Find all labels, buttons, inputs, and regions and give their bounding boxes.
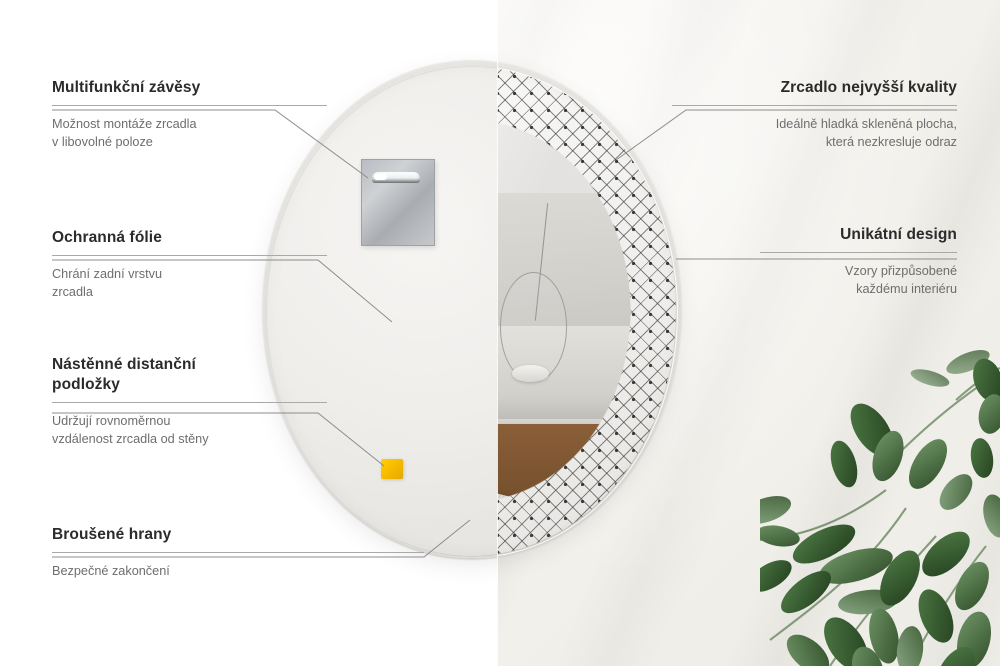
callout-unique-design-desc: Vzory přizpůsobené každému interiéru	[760, 262, 957, 298]
callout-mirror-quality-rule	[672, 105, 957, 106]
callout-protective-foil-title: Ochranná fólie	[52, 228, 327, 248]
callout-polished-edges-title: Broušené hrany	[52, 525, 424, 545]
callout-hangers-title: Multifunkční závěsy	[52, 78, 327, 98]
callout-wall-spacers-desc: Udržují rovnoměrnou vzdálenost zrcadla o…	[52, 412, 327, 448]
callout-polished-edges-rule	[52, 552, 424, 553]
infographic-page: Multifunkční závěsy Možnost montáže zrca…	[0, 0, 1000, 666]
spacer-pad-graphic	[381, 459, 403, 479]
callout-unique-design-title: Unikátní design	[760, 225, 957, 245]
callout-mirror-quality-desc: Ideálně hladká skleněná plocha, která ne…	[672, 115, 957, 151]
callout-hangers-rule	[52, 105, 327, 106]
callout-wall-spacers-title: Nástěnné distanční podložky	[52, 355, 327, 395]
callout-hangers: Multifunkční závěsy Možnost montáže zrca…	[52, 78, 327, 151]
hanger-keyhole-slot-icon	[372, 172, 420, 183]
callout-polished-edges-desc: Bezpečné zakončení	[52, 562, 424, 580]
callout-polished-edges: Broušené hrany Bezpečné zakončení	[52, 525, 424, 580]
callout-protective-foil-rule	[52, 255, 327, 256]
hanger-bracket-graphic	[361, 159, 435, 246]
callout-protective-foil-desc: Chrání zadní vrstvu zrcadla	[52, 265, 327, 301]
callout-wall-spacers: Nástěnné distanční podložky Udržují rovn…	[52, 355, 327, 448]
callout-protective-foil: Ochranná fólie Chrání zadní vrstvu zrcad…	[52, 228, 327, 301]
callout-wall-spacers-rule	[52, 402, 327, 403]
callout-mirror-quality-title: Zrcadlo nejvyšší kvality	[672, 78, 957, 98]
callout-unique-design-rule	[760, 252, 957, 253]
callout-hangers-desc: Možnost montáže zrcadla v libovolné polo…	[52, 115, 327, 151]
callout-mirror-quality: Zrcadlo nejvyšší kvality Ideálně hladká …	[672, 78, 957, 151]
callout-unique-design: Unikátní design Vzory přizpůsobené každé…	[760, 225, 957, 298]
